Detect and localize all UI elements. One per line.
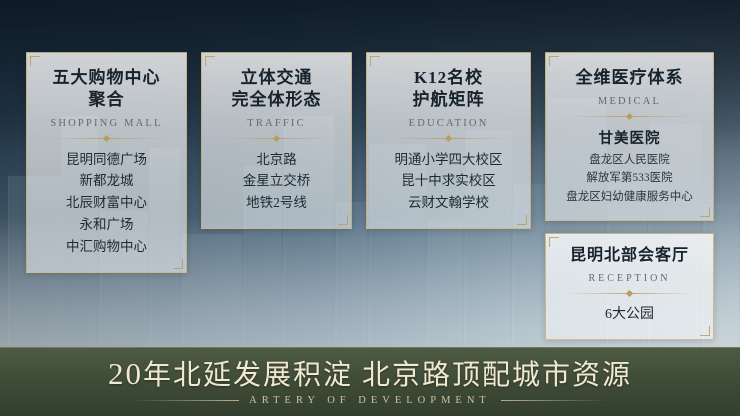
list-item: 昆明同德广场 bbox=[35, 149, 178, 171]
card-subtitle: MEDICAL bbox=[554, 96, 705, 107]
card-item-list: 明通小学四大校区 昆十中求实校区 云财文翰学校 bbox=[375, 149, 522, 215]
card-title: 立体交通 完全体形态 bbox=[210, 67, 343, 111]
card-item-list: 6大公园 bbox=[554, 304, 705, 327]
card-lead-item: 甘美医院 bbox=[554, 127, 705, 148]
card-title: K12名校 护航矩阵 bbox=[375, 67, 522, 111]
diamond-icon bbox=[103, 134, 110, 141]
card-traffic: 立体交通 完全体形态 TRAFFIC 北京路 金星立交桥 地铁2号线 bbox=[201, 52, 352, 229]
card-subtitle: SHOPPING MALL bbox=[35, 118, 178, 129]
card-divider bbox=[221, 138, 333, 139]
card-item-list: 北京路 金星立交桥 地铁2号线 bbox=[210, 149, 343, 215]
list-item: 6大公园 bbox=[554, 304, 705, 327]
list-item: 金星立交桥 bbox=[210, 170, 343, 192]
list-item: 北辰财富中心 bbox=[35, 192, 178, 214]
list-item: 盘龙区人民医院 bbox=[554, 151, 705, 169]
card-divider bbox=[387, 138, 510, 139]
card-subtitle: TRAFFIC bbox=[210, 118, 343, 129]
list-item: 明通小学四大校区 bbox=[375, 149, 522, 171]
card-divider bbox=[566, 116, 693, 117]
list-item: 盘龙区妇幼健康服务中心 bbox=[554, 188, 705, 206]
card-item-list: 盘龙区人民医院 解放军第533医院 盘龙区妇幼健康服务中心 bbox=[554, 151, 705, 206]
diamond-icon bbox=[445, 134, 452, 141]
poster-canvas: 五大购物中心 聚合 SHOPPING MALL 昆明同德广场 新都龙城 北辰财富… bbox=[0, 0, 740, 416]
card-title: 昆明北部会客厅 bbox=[554, 246, 705, 266]
list-item: 中汇购物中心 bbox=[35, 236, 178, 258]
card-subtitle: RECEPTION bbox=[554, 273, 705, 284]
banner-subline-row: ARTERY OF DEVELOPMENT bbox=[131, 395, 609, 406]
card-title: 五大购物中心 聚合 bbox=[35, 67, 178, 111]
diamond-icon bbox=[626, 113, 633, 120]
card-reception: 昆明北部会客厅 RECEPTION 6大公园 bbox=[545, 233, 714, 340]
feature-card-grid: 五大购物中心 聚合 SHOPPING MALL 昆明同德广场 新都龙城 北辰财富… bbox=[26, 52, 714, 340]
rule-right bbox=[501, 400, 609, 401]
list-item: 云财文翰学校 bbox=[375, 192, 522, 214]
bottom-banner: 20年北延发展积淀 北京路顶配城市资源 ARTERY OF DEVELOPMEN… bbox=[0, 347, 740, 416]
column-traffic: 立体交通 完全体形态 TRAFFIC 北京路 金星立交桥 地铁2号线 bbox=[201, 52, 352, 229]
banner-headline: 20年北延发展积淀 北京路顶配城市资源 bbox=[108, 358, 632, 391]
diamond-icon bbox=[626, 290, 633, 297]
card-title: 全维医疗体系 bbox=[554, 67, 705, 89]
rule-left bbox=[131, 400, 239, 401]
card-divider bbox=[566, 293, 693, 294]
list-item: 北京路 bbox=[210, 149, 343, 171]
banner-number: 20 bbox=[108, 356, 143, 391]
banner-headline-text: 年北延发展积淀 北京路顶配城市资源 bbox=[143, 360, 632, 391]
column-education: K12名校 护航矩阵 EDUCATION 明通小学四大校区 昆十中求实校区 云财… bbox=[366, 52, 531, 229]
list-item: 永和广场 bbox=[35, 214, 178, 236]
card-medical: 全维医疗体系 MEDICAL 甘美医院 盘龙区人民医院 解放军第533医院 盘龙… bbox=[545, 52, 714, 221]
list-item: 地铁2号线 bbox=[210, 192, 343, 214]
card-shopping-mall: 五大购物中心 聚合 SHOPPING MALL 昆明同德广场 新都龙城 北辰财富… bbox=[26, 52, 187, 273]
list-item: 昆十中求实校区 bbox=[375, 170, 522, 192]
list-item: 新都龙城 bbox=[35, 170, 178, 192]
card-education: K12名校 护航矩阵 EDUCATION 明通小学四大校区 昆十中求实校区 云财… bbox=[366, 52, 531, 229]
banner-subline: ARTERY OF DEVELOPMENT bbox=[249, 395, 491, 406]
card-item-list: 昆明同德广场 新都龙城 北辰财富中心 永和广场 中汇购物中心 bbox=[35, 149, 178, 258]
column-medical-reception: 全维医疗体系 MEDICAL 甘美医院 盘龙区人民医院 解放军第533医院 盘龙… bbox=[545, 52, 714, 340]
card-subtitle: EDUCATION bbox=[375, 118, 522, 129]
list-item: 解放军第533医院 bbox=[554, 169, 705, 187]
column-shopping: 五大购物中心 聚合 SHOPPING MALL 昆明同德广场 新都龙城 北辰财富… bbox=[26, 52, 187, 273]
diamond-icon bbox=[273, 134, 280, 141]
card-divider bbox=[46, 138, 166, 139]
